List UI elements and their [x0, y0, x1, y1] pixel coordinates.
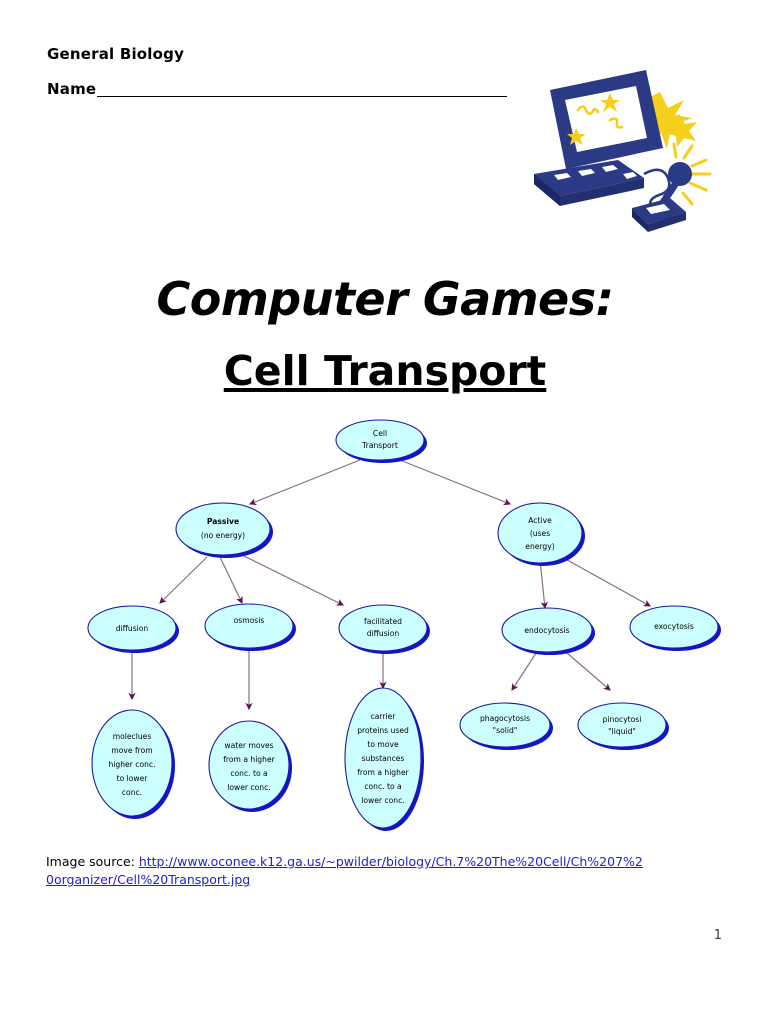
node-osmosis-detail[interactable]: water moves from a higher conc. to a low… [209, 721, 292, 812]
node-cell-transport[interactable]: Cell Transport [336, 420, 427, 463]
image-source-prefix: Image source: [46, 854, 139, 869]
node-label: conc. to a [230, 769, 267, 778]
node-label: to move [367, 740, 399, 749]
node-label: osmosis [234, 616, 265, 625]
node-label: energy) [525, 542, 554, 551]
node-label: carrier [371, 712, 397, 721]
node-label: substances [362, 754, 405, 763]
course-title: General Biology [47, 45, 184, 63]
node-label: endocytosis [524, 626, 569, 635]
edge-group [132, 460, 650, 709]
edge-root-passive [250, 460, 360, 504]
node-label: moleclues [113, 732, 152, 741]
node-label: "solid" [493, 726, 518, 735]
page-number: 1 [714, 928, 722, 943]
node-label: from a higher [223, 755, 275, 764]
keyboard-icon [534, 160, 644, 206]
image-source-line: Image source: http://www.oconee.k12.ga.u… [46, 853, 646, 889]
node-label: (uses [530, 529, 550, 538]
worksheet-page: General Biology Name [0, 0, 770, 1024]
node-label: conc. to a [364, 782, 401, 791]
node-label: water moves [224, 741, 273, 750]
node-label: (no energy) [201, 531, 245, 540]
edge-active-endocytosis [540, 560, 545, 608]
node-facilitated-detail[interactable]: carrier proteins used to move substances… [345, 688, 424, 831]
node-label: Passive [207, 517, 239, 526]
node-label: phagocytosis [480, 714, 530, 723]
node-label: lower conc. [361, 796, 404, 805]
computer-game-clipart [520, 62, 716, 240]
edge-root-active [400, 460, 510, 504]
page-title-sub-text: Cell Transport [224, 347, 547, 395]
edge-passive-osmosis [220, 557, 242, 603]
node-phagocytosis[interactable]: phagocytosis "solid" [460, 703, 553, 750]
node-label: pinocytosi [603, 715, 642, 724]
edge-endocytosis-pinocytosis [560, 647, 610, 690]
node-label: to lower [117, 774, 149, 783]
node-facilitated-diffusion[interactable]: facilitated diffusion [339, 605, 430, 654]
node-label: diffusion [367, 629, 400, 638]
edge-passive-diffusion [160, 557, 207, 603]
node-label: exocytosis [654, 622, 694, 631]
node-label: conc. [122, 788, 142, 797]
node-pinocytosis[interactable]: pinocytosi "liquid" [578, 703, 669, 750]
node-label: higher conc. [109, 760, 156, 769]
node-label: facilitated [364, 617, 402, 626]
node-label: move from [111, 746, 152, 755]
node-active[interactable]: Active (uses energy) [498, 503, 585, 566]
monitor-icon [550, 70, 663, 169]
node-diffusion[interactable]: diffusion [88, 606, 179, 653]
node-label: proteins used [357, 726, 409, 735]
node-passive[interactable]: Passive (no energy) [176, 503, 273, 558]
node-osmosis[interactable]: osmosis [205, 604, 296, 651]
page-title-main: Computer Games: [0, 272, 770, 326]
edge-active-exocytosis [560, 556, 650, 606]
node-label: Transport [361, 441, 398, 450]
name-label: Name [47, 82, 96, 97]
name-blank-line[interactable] [97, 83, 507, 97]
name-field-row: Name [47, 82, 507, 97]
node-exocytosis[interactable]: exocytosis [630, 606, 721, 651]
node-label: diffusion [116, 624, 149, 633]
node-endocytosis[interactable]: endocytosis [502, 608, 595, 655]
node-label: from a higher [357, 768, 409, 777]
node-label: "liquid" [608, 727, 636, 736]
node-diffusion-detail[interactable]: moleclues move from higher conc. to lowe… [92, 710, 175, 819]
node-label: Active [528, 516, 552, 525]
page-title-sub: Cell Transport [0, 347, 770, 395]
cell-transport-concept-map: Cell Transport Passive (no energy) Activ… [60, 418, 750, 843]
node-label: Cell [373, 429, 387, 438]
edge-passive-facilitated [240, 554, 343, 605]
node-label: lower conc. [227, 783, 270, 792]
joystick-icon [632, 162, 692, 232]
